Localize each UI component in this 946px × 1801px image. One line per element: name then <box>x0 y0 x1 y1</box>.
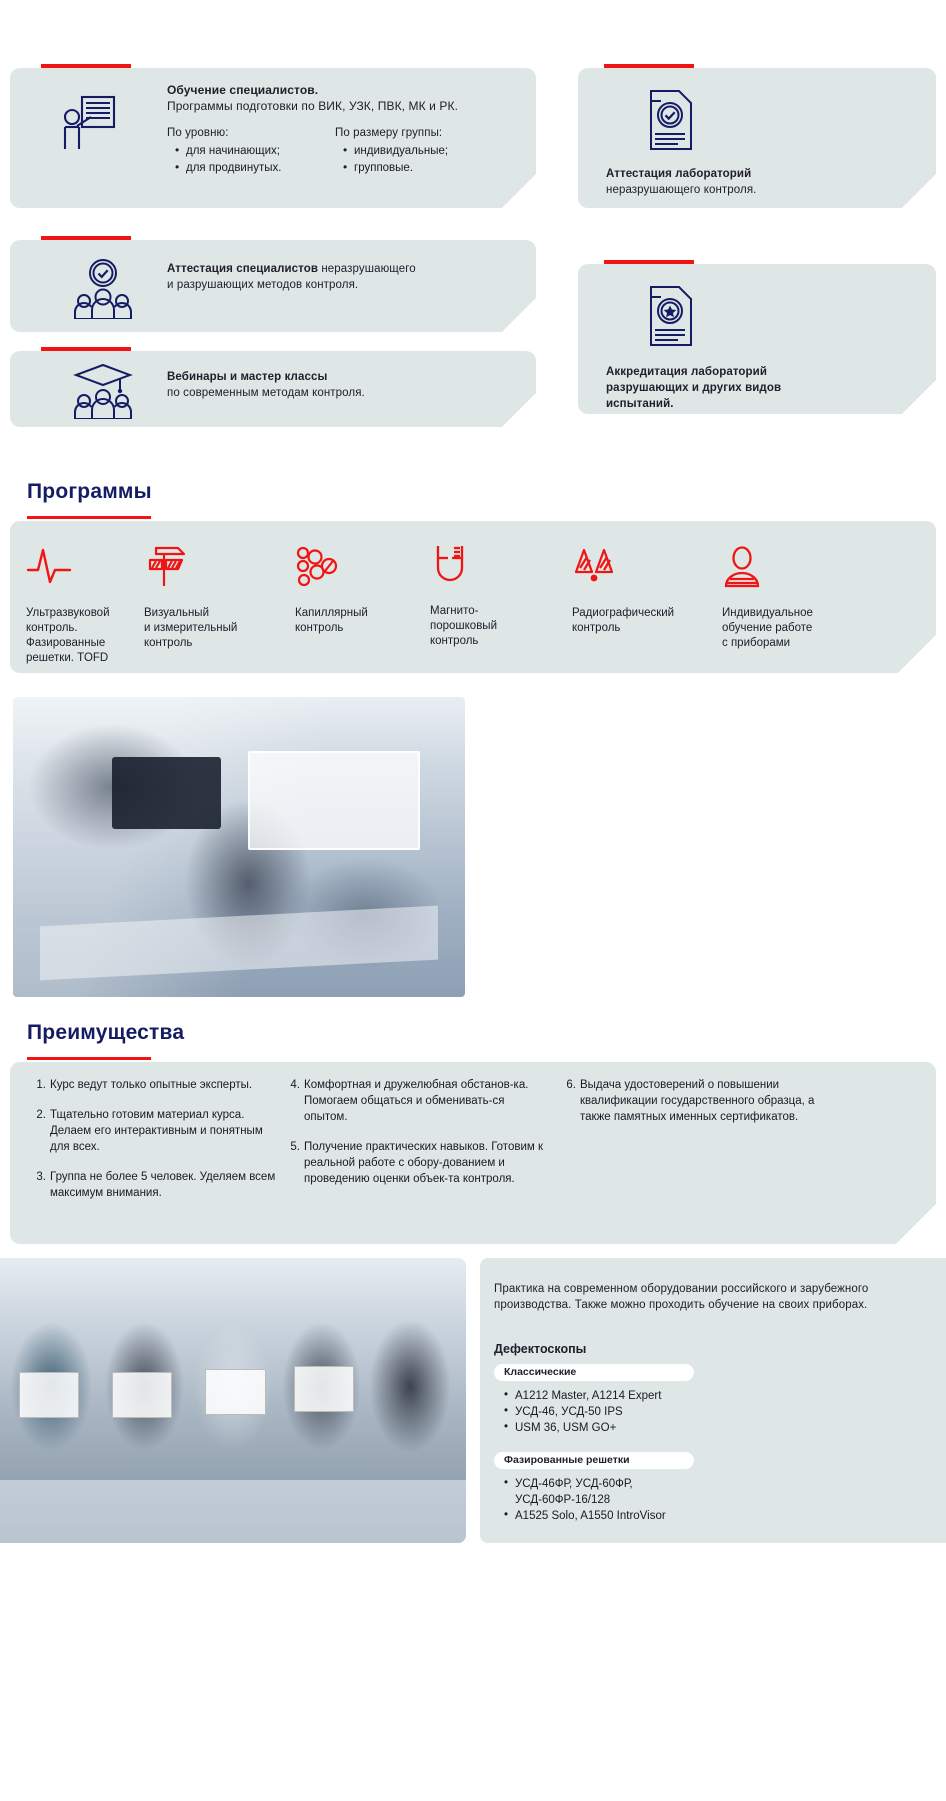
advantages-heading-rule <box>27 1057 151 1060</box>
advantages-panel: 1. Курс ведут только опытные эксперты. 2… <box>10 1062 936 1244</box>
card-webinars-line2: по современным методам контроля. <box>167 385 365 401</box>
program-label: Ультразвуковой контроль. Фазированные ре… <box>26 606 110 666</box>
list-item: 3. Группа не более 5 человек. Уделяем вс… <box>28 1169 278 1201</box>
document-check-icon <box>645 89 695 151</box>
advantages-column-3: 6. Выдача удостоверений о повышении квал… <box>558 1077 838 1139</box>
equipment-intro: Практика на современном оборудовании рос… <box>494 1281 914 1313</box>
card-title-rest: неразрушающего <box>318 263 416 275</box>
list-item: 2. Тщательно готовим материал курса. Дел… <box>28 1107 278 1155</box>
equipment-group-list-classic: A1212 Master, A1214 Expert УСД-46, УСД-5… <box>502 1388 661 1436</box>
radiation-icon <box>572 546 622 586</box>
list-item: УСД-46, УСД-50 IPS <box>502 1404 661 1420</box>
list-item: A1525 Solo, A1550 IntroVisor <box>502 1508 666 1524</box>
card-lab-attestation-title: Аттестация лабораторий <box>606 166 751 182</box>
group-level-list: для начинающих; для продвинутых. <box>173 143 281 177</box>
list-item: для продвинутых. <box>173 160 281 177</box>
program-label: Радиографический контроль <box>572 606 674 636</box>
list-item: 5. Получение практических навыков. Готов… <box>282 1139 550 1187</box>
programs-heading-rule <box>27 516 151 519</box>
person-device-icon <box>722 546 762 588</box>
display-screen <box>112 757 220 829</box>
certificate <box>112 1372 173 1418</box>
card-training-subtitle: Программы подготовки по ВИК, УЗК, ПВК, М… <box>167 98 458 114</box>
document-star-icon <box>645 285 695 347</box>
advantages-column-1: 1. Курс ведут только опытные эксперты. 2… <box>28 1077 278 1215</box>
advantages-column-2: 4. Комфортная и дружелюбная обстанов-ка.… <box>282 1077 550 1201</box>
list-item: USM 36, USM GO+ <box>502 1420 661 1436</box>
card-specialist-attestation-line2: и разрушающих методов контроля. <box>167 277 358 293</box>
list-item: A1212 Master, A1214 Expert <box>502 1388 661 1404</box>
card-notch <box>502 298 536 332</box>
list-item-text: Тщательно готовим материал курса. Делаем… <box>50 1109 263 1153</box>
list-item: УСД-46ФР, УСД-60ФР, УСД-60ФР-16/128 <box>502 1476 666 1508</box>
list-item-number: 4. <box>282 1077 300 1093</box>
group-level-heading: По уровню: <box>167 125 229 141</box>
list-item: групповые. <box>341 160 448 177</box>
card-notch <box>898 635 936 673</box>
card-webinars-title: Вебинары и мастер классы <box>167 369 327 385</box>
card-notch <box>502 393 536 427</box>
list-item: для начинающих; <box>173 143 281 160</box>
advantages-heading: Преимущества <box>27 1021 184 1045</box>
list-item: 4. Комфортная и дружелюбная обстанов-ка.… <box>282 1077 550 1125</box>
classroom-training-photo <box>13 697 465 997</box>
certificate <box>294 1366 355 1412</box>
list-item-number: 5. <box>282 1139 300 1155</box>
equipment-group-pill-phased-array: Фазированные решетки <box>494 1452 694 1469</box>
card-notch <box>502 174 536 208</box>
list-item-text: Группа не более 5 человек. Уделяем всем … <box>50 1171 275 1199</box>
list-item-text: Комфортная и дружелюбная обстанов-ка. По… <box>304 1079 528 1123</box>
list-item-number: 1. <box>28 1077 46 1093</box>
certificate <box>19 1372 80 1418</box>
card-title-strong: Аттестация специалистов <box>167 263 318 275</box>
card-training-title: Обучение специалистов. <box>167 82 318 98</box>
list-item-number: 2. <box>28 1107 46 1123</box>
card-lab-accreditation-line2: разрушающих и других видов <box>606 380 781 396</box>
magnet-icon <box>430 544 474 588</box>
card-notch <box>902 174 936 208</box>
list-item-text: Курс ведут только опытные эксперты. <box>50 1079 252 1091</box>
graduates-certificates-photo <box>0 1258 466 1543</box>
graduation-people-icon <box>72 361 134 419</box>
equipment-heading: Дефектоскопы <box>494 1342 586 1356</box>
group-size-heading: По размеру группы: <box>335 125 442 141</box>
programs-heading: Программы <box>27 480 152 504</box>
list-item: 6. Выдача удостоверений о повышении квал… <box>558 1077 838 1125</box>
equipment-group-pill-classic: Классические <box>494 1364 694 1381</box>
group-size-list: индивидуальные; групповые. <box>341 143 448 177</box>
list-item-text: Выдача удостоверений о повышении квалифи… <box>580 1079 814 1123</box>
card-notch <box>902 380 936 414</box>
landing-page: Обучение специалистов. Программы подгото… <box>0 0 946 1801</box>
card-lab-attestation-main[interactable]: Аттестация лабораторий неразрушающего ко… <box>578 68 936 208</box>
certificate <box>205 1369 266 1415</box>
card-lab-accreditation[interactable]: Аккредитация лабораторий разрушающих и д… <box>578 264 936 414</box>
list-item-number: 3. <box>28 1169 46 1185</box>
program-label: Магнито- порошковый контроль <box>430 604 497 649</box>
card-lab-accreditation-title: Аккредитация лабораторий <box>606 364 767 380</box>
caliper-icon <box>144 546 190 588</box>
program-label: Капиллярный контроль <box>295 606 368 636</box>
card-training[interactable]: Обучение специалистов. Программы подгото… <box>10 68 536 208</box>
list-item: 1. Курс ведут только опытные эксперты. <box>28 1077 278 1093</box>
whiteboard <box>248 751 420 850</box>
table-foreground <box>0 1480 466 1543</box>
card-lab-accreditation-line3: испытаний. <box>606 396 674 412</box>
teacher-board-icon <box>60 93 116 153</box>
program-label: Индивидуальное обучение работе с прибора… <box>722 606 813 651</box>
program-label: Визуальный и измерительный контроль <box>144 606 237 651</box>
card-notch <box>896 1204 936 1244</box>
list-item: индивидуальные; <box>341 143 448 160</box>
list-item-text: Получение практических навыков. Готовим … <box>304 1141 543 1185</box>
card-specialist-attestation-line1: Аттестация специалистов неразрушающего <box>167 261 416 277</box>
programs-strip: Ультразвуковой контроль. Фазированные ре… <box>10 521 936 673</box>
equipment-panel: Практика на современном оборудовании рос… <box>480 1258 946 1543</box>
droplets-icon <box>295 546 341 588</box>
people-check-icon <box>72 257 134 319</box>
card-specialist-attestation[interactable]: Аттестация специалистов неразрушающего и… <box>10 240 536 332</box>
list-item-number: 6. <box>558 1077 576 1093</box>
equipment-group-list-phased-array: УСД-46ФР, УСД-60ФР, УСД-60ФР-16/128 A152… <box>502 1476 666 1524</box>
card-lab-attestation-line2: неразрушающего контроля. <box>606 182 756 198</box>
card-webinars[interactable]: Вебинары и мастер классы по современным … <box>10 351 536 427</box>
waveform-icon <box>26 546 72 586</box>
